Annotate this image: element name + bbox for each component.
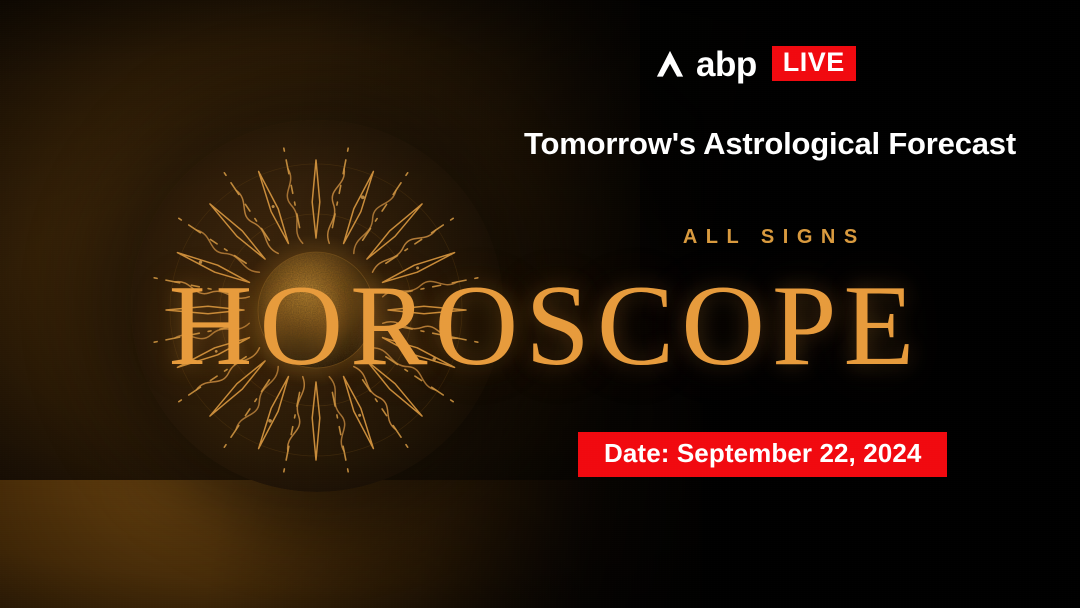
eyebrow-label: ALL SIGNS — [490, 226, 1050, 249]
date-badge: Date: September 22, 2024 — [578, 432, 947, 477]
horoscope-banner: HOROSCOPE abp LIVE Tomorrow's Astrologic… — [0, 0, 1080, 608]
live-badge: LIVE — [772, 46, 856, 81]
abp-arrow-icon — [655, 48, 685, 79]
abp-brand-text: abp — [696, 47, 757, 82]
abp-live-logo[interactable]: abp LIVE — [655, 44, 856, 82]
page-title: Tomorrow's Astrological Forecast — [490, 126, 1050, 162]
horoscope-wordmark: HOROSCOPE — [0, 268, 1080, 384]
